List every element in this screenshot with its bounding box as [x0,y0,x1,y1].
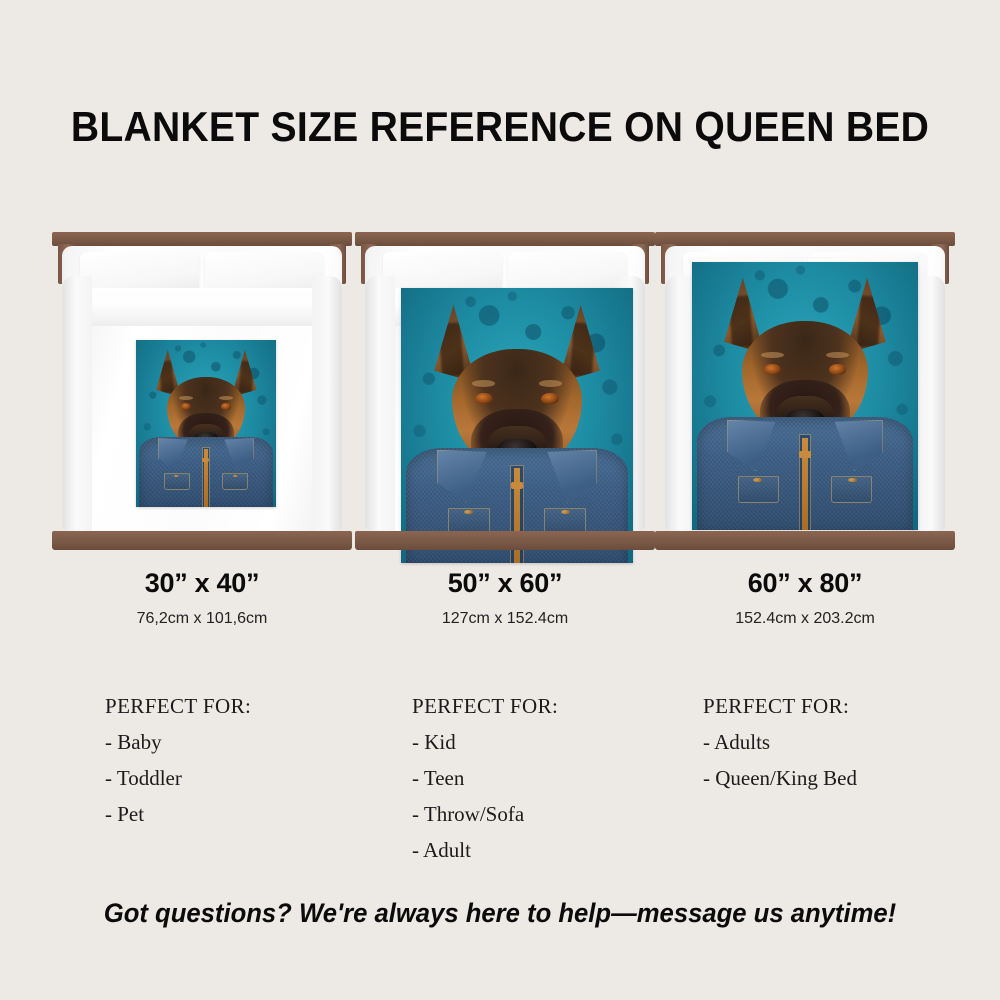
page-title: BLANKET SIZE REFERENCE ON QUEEN BED [35,103,965,151]
dog-eye-right [829,364,846,375]
dog-eye-right [541,393,558,405]
size-inches-label: 30” x 40” [52,568,352,599]
perfect-for-small: PERFECT FOR: - Baby - Toddler - Pet [105,688,251,832]
bed-headboard-rail [655,232,955,246]
perfect-for-item: - Pet [105,796,251,832]
dog-brow-right [539,380,562,387]
dog-ear-inner-left [159,361,174,394]
size-inches-label: 50” x 60” [355,568,655,599]
bed-footboard-rail [52,531,352,550]
jacket-collar-right [539,450,597,503]
jacket-zipper-pull [799,451,810,458]
jacket-button-right [561,510,570,514]
jacket-collar-left [158,438,193,470]
perfect-for-item: - Teen [412,760,558,796]
dog-eye-left [764,364,781,375]
jacket-collar-left [727,420,783,472]
size-cm-label: 76,2cm x 101,6cm [52,610,352,628]
size-column-large: 60” x 80” 152.4cm x 203.2cm [655,232,955,628]
bed-footboard-rail [355,531,655,550]
perfect-for-item: - Adult [412,832,558,868]
duvet-drape-left [365,276,395,531]
dog-brow-left [761,352,784,358]
perfect-for-item: - Baby [105,724,251,760]
bed-headboard-rail [355,232,655,246]
bed-illustration-large [655,232,955,550]
dog-portrait [401,288,633,563]
size-column-medium: 50” x 60” 127cm x 152.4cm [355,232,655,628]
bed-footboard-rail [655,531,955,550]
jacket-button-left [753,478,762,482]
blanket-artwork-large [692,262,918,530]
perfect-for-item: - Queen/King Bed [703,760,857,796]
perfect-for-item: - Kid [412,724,558,760]
jacket-collar-left [437,450,495,503]
size-inches-label: 60” x 80” [655,568,955,599]
bed-illustration-medium [355,232,655,550]
perfect-for-item: - Throw/Sofa [412,796,558,832]
jacket-collar-right [219,438,254,470]
duvet-drape-left [665,276,695,531]
perfect-for-title: PERFECT FOR: [105,688,251,724]
perfect-for-title: PERFECT FOR: [412,688,558,724]
denim-jacket [697,417,914,530]
dog-brow-right [219,396,233,400]
dog-ear-inner-right [571,322,596,376]
duvet-drape-right [312,276,342,531]
dog-ear-inner-right [857,295,881,348]
dog-portrait [692,262,918,530]
size-cm-label: 127cm x 152.4cm [355,610,655,628]
bed-headboard-rail [52,232,352,246]
blanket-artwork-small [136,340,276,507]
perfect-for-item: - Adults [703,724,857,760]
duvet-drape-right [915,276,945,531]
dog-portrait [136,340,276,507]
jacket-button-right [233,475,239,477]
dog-ear-inner-left [729,295,753,348]
bed-illustration-small [52,232,352,550]
dog-eye-left [475,393,492,405]
jacket-button-right [848,478,857,482]
perfect-for-medium: PERFECT FOR: - Kid - Teen - Throw/Sofa -… [412,688,558,868]
perfect-for-title: PERFECT FOR: [703,688,857,724]
denim-jacket [139,437,273,507]
jacket-zipper-pull [511,482,523,489]
dog-brow-left [472,380,495,387]
perfect-for-large: PERFECT FOR: - Adults - Queen/King Bed [703,688,857,796]
size-column-small: 30” x 40” 76,2cm x 101,6cm [52,232,352,628]
jacket-button-left [464,510,473,514]
dog-ear-inner-right [238,361,253,394]
duvet-drape-left [62,276,92,531]
dog-brow-left [179,396,193,400]
perfect-for-item: - Toddler [105,760,251,796]
footer-message: Got questions? We're always here to help… [25,898,975,929]
blanket-artwork-medium [401,288,633,563]
size-cm-label: 152.4cm x 203.2cm [655,610,955,628]
jacket-collar-right [827,420,883,472]
dog-ear-inner-left [439,322,464,376]
